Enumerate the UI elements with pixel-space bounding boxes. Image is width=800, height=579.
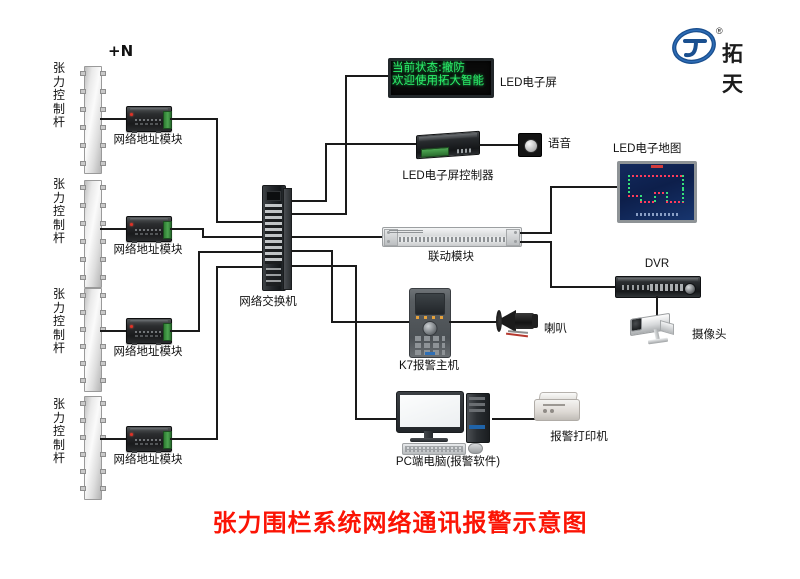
wire-link-map-h1 [520, 232, 552, 234]
network-address-module-4-label: 网络地址模块 [114, 454, 183, 467]
horn-speaker [496, 306, 542, 336]
wire-link-map-h2 [550, 186, 619, 188]
wire-pole2-module [100, 228, 128, 230]
registered-mark: ® [716, 26, 723, 36]
wire-sw-ledscr-h1 [291, 213, 347, 215]
network-address-module-3 [126, 318, 172, 344]
wire-link-dvr-v [550, 241, 552, 288]
wire-sw-pc-v [355, 265, 357, 420]
wire-sw-ledctl-h1 [291, 200, 327, 202]
k7-alarm-host-label: K7报警主机 [399, 360, 459, 373]
wire-sw-ledscr-v [345, 77, 347, 215]
wire-sw-ledscr-h2 [345, 75, 388, 77]
horn-label: 喇叭 [544, 323, 567, 336]
wire-k7-horn [449, 321, 497, 323]
alarm-printer-label: 报警打印机 [550, 431, 608, 444]
wire-pc-printer [492, 418, 537, 420]
wire-sw-k7-h2 [331, 321, 411, 323]
wire-sw-ledctl-h2 [325, 143, 417, 145]
led-screen-controller-label: LED电子屏控制器 [402, 170, 493, 183]
voice-speaker-device [518, 133, 542, 157]
network-address-module-2-label: 网络地址模块 [114, 244, 183, 257]
wire-m1-in [216, 221, 264, 223]
wire-m2-h [170, 228, 204, 230]
wire-m1-h [170, 118, 218, 120]
wire-m4-v [216, 266, 218, 440]
pole-2-label: 张力控制杆 [52, 178, 66, 246]
led-screen-line-2: 欢迎使用拓大智能 [391, 74, 491, 87]
tension-control-pole-1 [84, 66, 102, 174]
led-electronic-screen: 当前状态:撤防 欢迎使用拓大智能 [388, 58, 494, 98]
pole-3-label: 张力控制杆 [52, 288, 66, 356]
brand-name: 拓天 [722, 38, 744, 98]
wire-ledctl-voice [479, 144, 520, 146]
wire-sw-k7-h1 [291, 250, 333, 252]
wire-m1-v [216, 118, 218, 223]
wire-m4-in [216, 266, 264, 268]
wire-pole3-module [100, 330, 128, 332]
wire-sw-linkage [291, 236, 383, 238]
camera-label: 摄像头 [692, 329, 727, 342]
wire-m3-h [170, 330, 200, 332]
wire-sw-pc-h2 [355, 418, 397, 420]
mouse [468, 443, 483, 454]
wire-m4-h [170, 438, 218, 440]
wire-sw-pc-h1 [291, 265, 357, 267]
plus-n-label: +N [108, 42, 133, 60]
alarm-printer [534, 391, 580, 421]
diagram-title: 张力围栏系统网络通讯报警示意图 [213, 503, 588, 538]
network-address-module-1-label: 网络地址模块 [114, 134, 183, 147]
pc-workstation [396, 391, 500, 453]
monitor [396, 391, 464, 433]
linkage-module-label: 联动模块 [428, 251, 474, 264]
network-address-module-3-label: 网络地址模块 [114, 346, 183, 359]
voice-icon [524, 139, 538, 153]
wire-link-dvr-h1 [520, 241, 552, 243]
led-screen-controller [416, 131, 480, 159]
wire-m2-in [202, 236, 264, 238]
diagram-canvas: ® 拓天 +N 张力控制杆 网络地址模块 张力控制杆 网络地址模块 [0, 0, 800, 579]
wire-m3-in [198, 251, 264, 253]
keyboard [402, 443, 466, 455]
wire-link-dvr-h2 [550, 286, 617, 288]
network-switch-label: 网络交换机 [239, 296, 297, 309]
tuotian-oval-t-logo-icon [672, 26, 718, 66]
k7-alarm-host [409, 288, 451, 358]
dvr-label: DVR [645, 258, 669, 271]
wire-pole1-module [100, 118, 128, 120]
tension-control-pole-3 [84, 288, 102, 392]
pc-label: PC端电脑(报警软件) [396, 456, 500, 469]
pole-4-label: 张力控制杆 [52, 398, 66, 466]
led-electronic-screen-label: LED电子屏 [500, 77, 557, 90]
led-map-label: LED电子地图 [613, 143, 681, 156]
pc-tower [466, 393, 490, 443]
wire-link-map-v [550, 186, 552, 234]
tension-control-pole-2 [84, 180, 102, 288]
network-address-module-4 [126, 426, 172, 452]
network-address-module-2 [126, 216, 172, 242]
tension-control-pole-4 [84, 396, 102, 500]
network-address-module-1 [126, 106, 172, 132]
wire-m3-v [198, 251, 200, 332]
network-switch [262, 185, 286, 291]
wire-sw-k7-v [331, 250, 333, 323]
wire-sw-ledctl-v [325, 145, 327, 202]
led-electronic-map [617, 161, 697, 223]
voice-label: 语音 [548, 138, 571, 151]
pole-1-label: 张力控制杆 [52, 62, 66, 130]
camera-device [630, 312, 686, 346]
wire-pole4-module [100, 438, 128, 440]
dvr-device [615, 276, 701, 298]
linkage-module [382, 227, 522, 247]
